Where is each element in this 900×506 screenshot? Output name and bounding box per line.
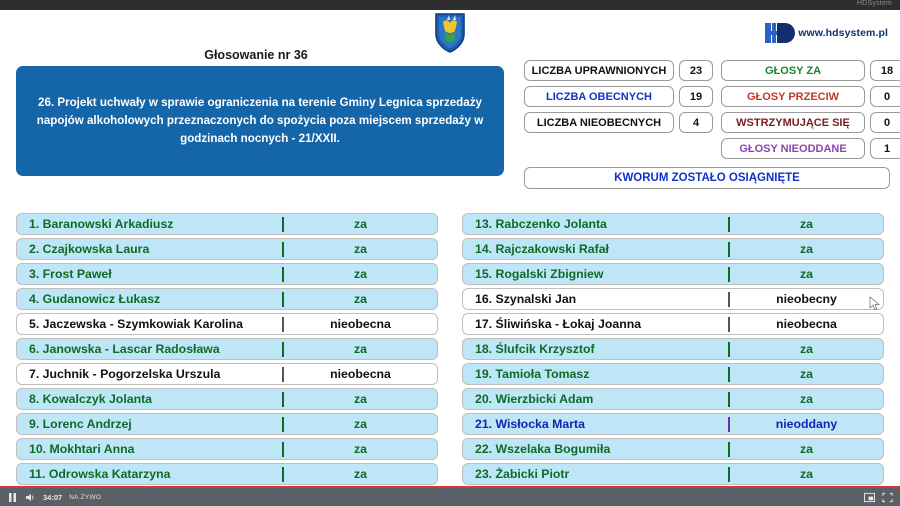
voter-name: 11. Odrowska Katarzyna xyxy=(17,467,282,481)
voter-name: 2. Czajkowska Laura xyxy=(17,242,282,256)
quorum-banner: KWORUM ZOSTAŁO OSIĄGNIĘTE xyxy=(524,167,890,189)
voter-vote: za xyxy=(730,442,883,456)
pause-icon[interactable] xyxy=(7,492,18,503)
voter-row: 22. Wszelaka Bogumiłaza xyxy=(462,438,884,460)
stat-value: 0 xyxy=(870,86,900,107)
voter-vote: za xyxy=(730,342,883,356)
voter-vote: za xyxy=(284,267,437,281)
voter-row: 17. Śliwińska - Łokaj Joannanieobecna xyxy=(462,313,884,335)
vote-title: Głosowanie nr 36 xyxy=(0,48,512,62)
voter-name: 7. Juchnik - Pogorzelska Urszula xyxy=(17,367,282,381)
voter-vote: za xyxy=(284,292,437,306)
voter-vote: za xyxy=(284,392,437,406)
voter-row: 21. Wisłocka Martanieoddany xyxy=(462,413,884,435)
voter-name: 5. Jaczewska - Szymkowiak Karolina xyxy=(17,317,282,331)
hdsystem-watermark: HDSystem xyxy=(857,0,892,7)
stat-label: GŁOSY ZA xyxy=(721,60,865,81)
resolution-text: 26. Projekt uchwały w sprawie ograniczen… xyxy=(32,94,488,148)
voter-name: 14. Rajczakowski Rafał xyxy=(463,242,728,256)
stat-spacer xyxy=(524,138,713,159)
voter-vote: za xyxy=(730,392,883,406)
hdsystem-logo: www.hdsystem.pl xyxy=(765,22,888,44)
voter-row: 19. Tamioła Tomaszza xyxy=(462,363,884,385)
voter-name: 10. Mokhtari Anna xyxy=(17,442,282,456)
voter-row: 8. Kowalczyk Jolantaza xyxy=(16,388,438,410)
stat-label: LICZBA OBECNYCH xyxy=(524,86,674,107)
stats-column-votes: GŁOSY ZA18GŁOSY PRZECIW0WSTRZYMUJĄCE SIĘ… xyxy=(721,60,900,159)
voter-row: 20. Wierzbicki Adamza xyxy=(462,388,884,410)
stat-label: GŁOSY NIEODDANE xyxy=(721,138,865,159)
voter-name: 22. Wszelaka Bogumiła xyxy=(463,442,728,456)
voter-vote: za xyxy=(284,417,437,431)
player-controls-bar: 34:07 NA ŻYWO xyxy=(0,488,900,506)
voter-row: 9. Lorenc Andrzejza xyxy=(16,413,438,435)
voter-name: 16. Szynalski Jan xyxy=(463,292,728,306)
picture-in-picture-icon[interactable] xyxy=(864,492,875,503)
stat-row: LICZBA OBECNYCH19 xyxy=(524,86,713,107)
player-time: 34:07 xyxy=(43,493,62,502)
voter-name: 13. Rabczenko Jolanta xyxy=(463,217,728,231)
resolution-banner: 26. Projekt uchwały w sprawie ograniczen… xyxy=(16,66,504,176)
voter-row: 15. Rogalski Zbigniewza xyxy=(462,263,884,285)
voter-row: 7. Juchnik - Pogorzelska Urszulanieobecn… xyxy=(16,363,438,385)
voter-vote: nieobecna xyxy=(284,317,437,331)
video-player-stage: HDSystem www.hdsystem.pl xyxy=(0,0,900,506)
voter-name: 3. Frost Paweł xyxy=(17,267,282,281)
stat-value: 0 xyxy=(870,112,900,133)
stat-row: LICZBA UPRAWNIONYCH23 xyxy=(524,60,713,81)
voter-row: 18. Ślufcik Krzysztofza xyxy=(462,338,884,360)
hdsystem-url: www.hdsystem.pl xyxy=(798,27,888,39)
stat-value: 19 xyxy=(679,86,713,107)
stat-row: GŁOSY PRZECIW0 xyxy=(721,86,900,107)
voter-row: 10. Mokhtari Annaza xyxy=(16,438,438,460)
voter-vote: za xyxy=(284,442,437,456)
voter-column-left: 1. Baranowski Arkadiuszza2. Czajkowska L… xyxy=(16,213,438,506)
voter-name: 15. Rogalski Zbigniew xyxy=(463,267,728,281)
voter-column-right: 13. Rabczenko Jolantaza14. Rajczakowski … xyxy=(462,213,884,488)
voter-row: 13. Rabczenko Jolantaza xyxy=(462,213,884,235)
stats-panel: LICZBA UPRAWNIONYCH23LICZBA OBECNYCH19LI… xyxy=(524,60,890,189)
player-live-label: NA ŻYWO xyxy=(69,494,101,501)
voter-vote: nieobecna xyxy=(730,317,883,331)
voter-name: 21. Wisłocka Marta xyxy=(463,417,728,431)
volume-icon[interactable] xyxy=(25,492,36,503)
stat-label: LICZBA UPRAWNIONYCH xyxy=(524,60,674,81)
stat-value: 23 xyxy=(679,60,713,81)
stat-row: GŁOSY NIEODDANE1 xyxy=(721,138,900,159)
voter-name: 17. Śliwińska - Łokaj Joanna xyxy=(463,317,728,331)
voter-name: 19. Tamioła Tomasz xyxy=(463,367,728,381)
voter-name: 4. Gudanowicz Łukasz xyxy=(17,292,282,306)
stat-row: GŁOSY ZA18 xyxy=(721,60,900,81)
stat-label: WSTRZYMUJĄCE SIĘ xyxy=(721,112,865,133)
voter-vote: za xyxy=(730,242,883,256)
stat-label: LICZBA NIEOBECNYCH xyxy=(524,112,674,133)
voter-row: 14. Rajczakowski Rafałza xyxy=(462,238,884,260)
voter-name: 1. Baranowski Arkadiusz xyxy=(17,217,282,231)
voter-row: 2. Czajkowska Lauraza xyxy=(16,238,438,260)
voter-name: 9. Lorenc Andrzej xyxy=(17,417,282,431)
voter-name: 23. Żabicki Piotr xyxy=(463,467,728,481)
voter-name: 8. Kowalczyk Jolanta xyxy=(17,392,282,406)
stat-value: 1 xyxy=(870,138,900,159)
voter-name: 20. Wierzbicki Adam xyxy=(463,392,728,406)
stat-value: 18 xyxy=(870,60,900,81)
hd-logo-mark-icon xyxy=(765,22,795,44)
voter-row: 6. Janowska - Lascar Radosławaza xyxy=(16,338,438,360)
voter-name: 6. Janowska - Lascar Radosława xyxy=(17,342,282,356)
voter-row: 1. Baranowski Arkadiuszza xyxy=(16,213,438,235)
voter-vote: za xyxy=(730,367,883,381)
voter-vote: nieoddany xyxy=(730,417,883,431)
stat-value: 4 xyxy=(679,112,713,133)
voter-vote: nieobecny xyxy=(730,292,883,306)
voter-vote: za xyxy=(730,217,883,231)
voting-result-page: www.hdsystem.pl Głosowanie nr 36 26. Pro… xyxy=(0,10,900,488)
voter-row: 4. Gudanowicz Łukaszza xyxy=(16,288,438,310)
voter-name: 18. Ślufcik Krzysztof xyxy=(463,342,728,356)
voter-vote: za xyxy=(284,342,437,356)
voter-vote: za xyxy=(284,217,437,231)
voter-vote: za xyxy=(730,467,883,481)
voter-row: 16. Szynalski Jannieobecny xyxy=(462,288,884,310)
voter-vote: nieobecna xyxy=(284,367,437,381)
stat-row: WSTRZYMUJĄCE SIĘ0 xyxy=(721,112,900,133)
mouse-cursor-icon xyxy=(869,296,881,311)
voter-row: 5. Jaczewska - Szymkowiak Karolinanieobe… xyxy=(16,313,438,335)
stat-row: LICZBA NIEOBECNYCH4 xyxy=(524,112,713,133)
stat-label: GŁOSY PRZECIW xyxy=(721,86,865,107)
stats-column-attendance: LICZBA UPRAWNIONYCH23LICZBA OBECNYCH19LI… xyxy=(524,60,713,159)
voter-row: 11. Odrowska Katarzynaza xyxy=(16,463,438,485)
voter-vote: za xyxy=(284,242,437,256)
voter-vote: za xyxy=(284,467,437,481)
voter-vote: za xyxy=(730,267,883,281)
fullscreen-icon[interactable] xyxy=(882,492,893,503)
top-strip: HDSystem xyxy=(0,0,900,10)
voter-row: 23. Żabicki Piotrza xyxy=(462,463,884,485)
voter-row: 3. Frost Pawełza xyxy=(16,263,438,285)
